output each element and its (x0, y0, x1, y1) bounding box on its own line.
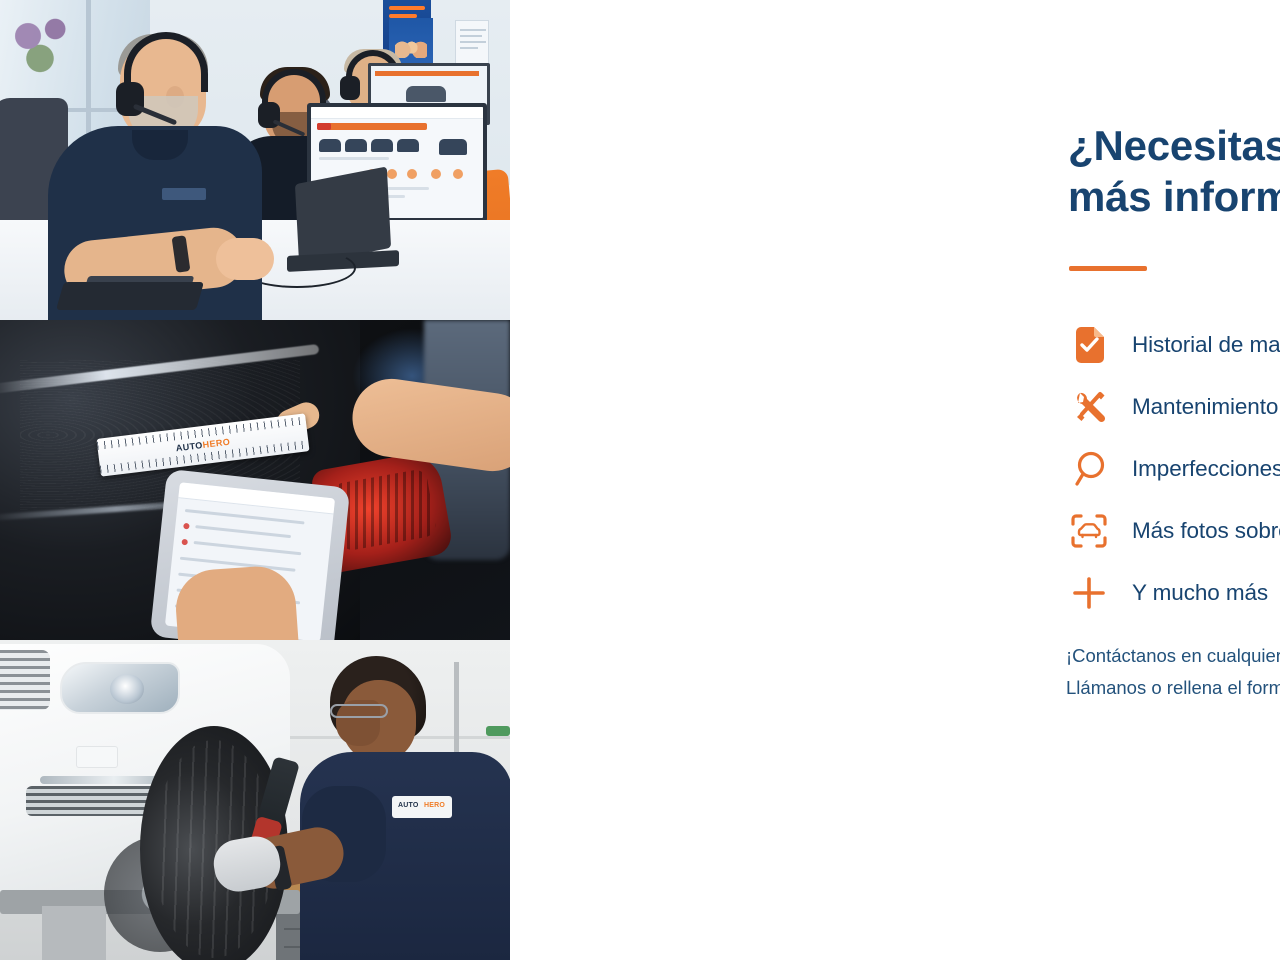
workshop-wheel-service-photo: AUTO HERO (0, 640, 510, 960)
page-title-line-1: ¿Necesitas (1068, 120, 1280, 171)
wall-notice (455, 20, 489, 66)
autohero-uniform-patch: AUTO HERO (392, 796, 452, 818)
car-inspection-ruler-photo: AUTOHERO (0, 320, 510, 640)
technician: AUTO HERO (306, 656, 510, 960)
call-center-agents-photo (0, 0, 510, 320)
photo-column: AUTOHERO (0, 0, 510, 960)
magnifier-icon (1066, 446, 1112, 492)
car-lift-column (42, 906, 106, 960)
feature-label: Mantenimiento realizado (1132, 394, 1280, 420)
plate-holder (76, 746, 118, 768)
car-headlight (60, 662, 180, 714)
feature-item-imperfections: Imperfecciones (1066, 438, 1280, 500)
content-panel: ¿Necesitas más información? Historial de… (510, 0, 1280, 960)
tools-icon (1066, 384, 1112, 430)
feature-label: Más fotos sobre el coche (1132, 518, 1280, 544)
document-check-icon (1066, 322, 1112, 368)
car-grille (0, 650, 50, 710)
feature-list: Historial de mantenimientos Mantenimient… (1066, 314, 1280, 624)
feature-item-much-more: Y mucho más (1066, 562, 1280, 624)
contact-text: ¡Contáctanos en cualquier momento para m… (1066, 640, 1280, 704)
contact-line-2: Llámanos o rellena el formulario de cont… (1066, 672, 1280, 704)
marketing-panel: AUTOHERO (0, 0, 1280, 960)
desk-tablet (56, 282, 204, 310)
feature-label: Historial de mantenimientos (1132, 332, 1280, 358)
feature-item-maintenance-history: Historial de mantenimientos (1066, 314, 1280, 376)
feature-item-maintenance-done: Mantenimiento realizado (1066, 376, 1280, 438)
feature-label: Imperfecciones (1132, 456, 1280, 482)
page-title: ¿Necesitas más información? (1068, 120, 1280, 222)
car-focus-icon (1066, 508, 1112, 554)
feature-label: Y mucho más (1132, 580, 1268, 606)
feature-item-more-photos: Más fotos sobre el coche (1066, 500, 1280, 562)
title-underline-rule (1069, 266, 1147, 271)
contact-line-1: ¡Contáctanos en cualquier momento para m… (1066, 640, 1280, 672)
plus-icon (1066, 570, 1112, 616)
page-title-line-2: más información? (1068, 171, 1280, 222)
